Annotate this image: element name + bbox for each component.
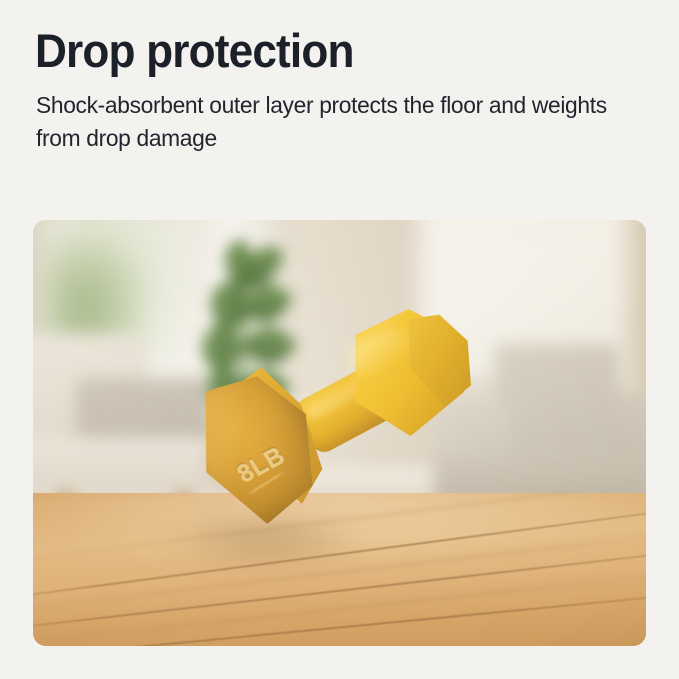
dumbbell: 8LB [205,305,512,527]
product-photo: 8LB [33,220,646,646]
product-feature-card: Drop protection Shock-absorbent outer la… [0,0,679,679]
photo-scene: 8LB [33,220,646,646]
text-block: Drop protection Shock-absorbent outer la… [35,24,645,155]
page-title: Drop protection [35,24,608,78]
subtitle: Shock-absorbent outer layer protects the… [36,89,618,155]
